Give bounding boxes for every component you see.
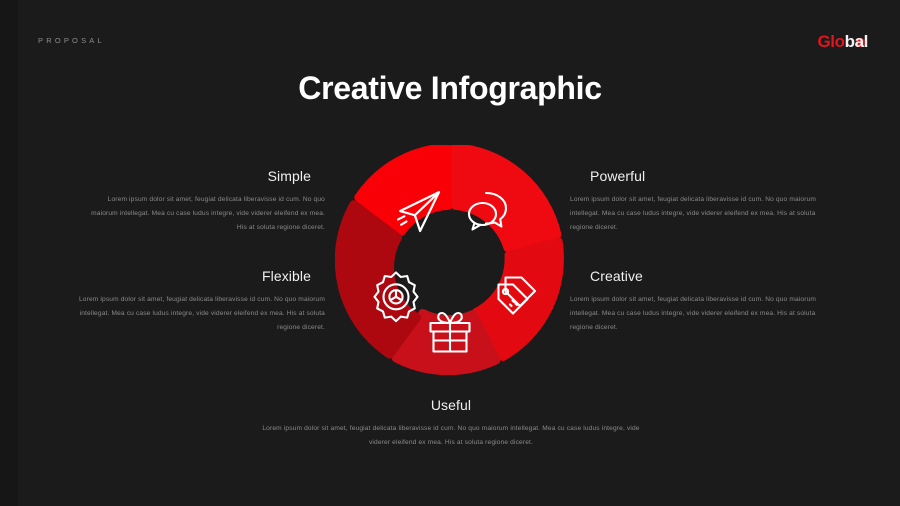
segment-description-useful: Lorem ipsum dolor sit amet, feugiat deli… [255,422,647,450]
segment-description-creative: Lorem ipsum dolor sit amet, feugiat deli… [570,293,822,336]
slide-canvas: PROPOSAL Global Creative Infographic [0,0,900,506]
segment-text-simple: Simple Lorem ipsum dolor sit amet, feugi… [80,168,325,236]
logo-text-a: a [855,32,864,51]
brand-logo: Global [817,33,868,50]
segment-description-simple: Lorem ipsum dolor sit amet, feugiat deli… [80,193,325,236]
segment-description-powerful: Lorem ipsum dolor sit amet, feugiat deli… [570,193,818,236]
segment-text-useful: Useful Lorem ipsum dolor sit amet, feugi… [255,397,647,450]
segment-label-flexible: Flexible [65,268,311,284]
segment-text-flexible: Flexible Lorem ipsum dolor sit amet, feu… [65,268,325,336]
page-title: Creative Infographic [0,70,900,107]
segment-text-powerful: Powerful Lorem ipsum dolor sit amet, feu… [570,168,818,236]
segment-description-flexible: Lorem ipsum dolor sit amet, feugiat deli… [65,293,325,336]
segment-text-creative: Creative Lorem ipsum dolor sit amet, feu… [570,268,822,336]
logo-text-primary: Glo [817,32,844,51]
segment-label-useful: Useful [255,397,647,413]
donut-segment-powerful [456,147,558,248]
donut-diagram [335,145,565,375]
kicker-label: PROPOSAL [38,36,105,45]
segment-label-powerful: Powerful [590,168,818,184]
logo-text-b: b [845,32,855,51]
segment-label-simple: Simple [80,168,311,184]
logo-dot-mark: a [855,33,864,50]
segment-label-creative: Creative [590,268,822,284]
